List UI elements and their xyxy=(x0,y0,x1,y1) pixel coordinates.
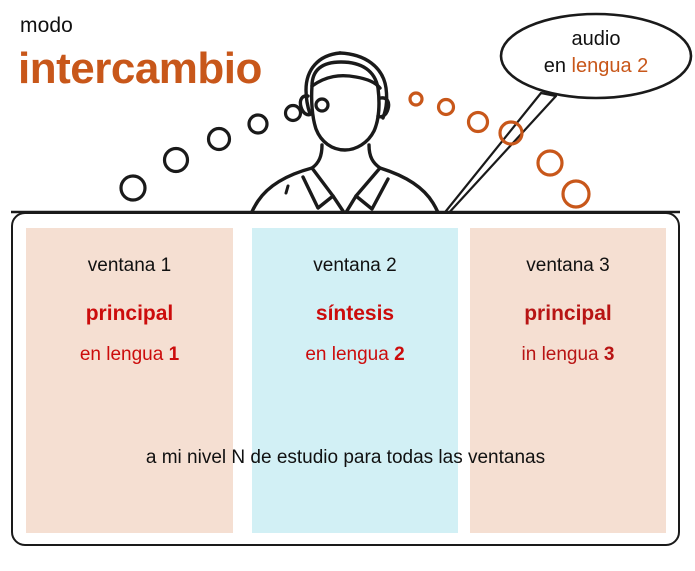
window-language-1: en lengua 1 xyxy=(26,344,233,366)
window-column-1-content: ventana 1 principal en lengua 1 xyxy=(26,228,233,366)
window-label-2: ventana 2 xyxy=(252,255,458,277)
window-column-1[interactable]: ventana 1 principal en lengua 1 xyxy=(26,228,233,533)
speech-bubble-text: audio en lengua 2 xyxy=(505,26,687,80)
window-column-2-content: ventana 2 síntesis en lengua 2 xyxy=(252,228,458,366)
window-language-2: en lengua 2 xyxy=(252,344,458,366)
window-column-3[interactable]: ventana 3 principal in lengua 3 xyxy=(470,228,666,533)
window-language-3-number: 3 xyxy=(604,344,615,365)
window-role-2: síntesis xyxy=(252,302,458,326)
window-language-1-prefix: en lengua xyxy=(80,344,169,365)
speech-bubble-line-2: en lengua 2 xyxy=(505,53,687,80)
window-language-1-number: 1 xyxy=(169,344,180,365)
window-language-3-prefix: in lengua xyxy=(522,344,604,365)
speech-bubble-line-2-highlight: lengua 2 xyxy=(572,55,649,77)
window-column-3-content: ventana 3 principal in lengua 3 xyxy=(470,228,666,366)
window-role-1: principal xyxy=(26,302,233,326)
window-label-1: ventana 1 xyxy=(26,255,233,277)
page-title: intercambio xyxy=(18,44,262,94)
header-eyebrow: modo xyxy=(20,14,73,38)
thought-bubbles-left xyxy=(121,99,328,200)
window-label-3: ventana 3 xyxy=(470,255,666,277)
window-language-2-number: 2 xyxy=(394,344,405,365)
window-role-3: principal xyxy=(470,302,666,326)
speech-bubble-line-2-prefix: en xyxy=(544,55,572,77)
speech-bubble-line-1: audio xyxy=(505,26,687,53)
window-column-2[interactable]: ventana 2 síntesis en lengua 2 xyxy=(252,228,458,533)
window-language-3: in lengua 3 xyxy=(470,344,666,366)
diagram-canvas: modo intercambio xyxy=(0,0,695,571)
window-language-2-prefix: en lengua xyxy=(305,344,394,365)
thought-bubbles-right xyxy=(410,93,589,207)
panel-caption: a mi nivel N de estudio para todas las v… xyxy=(11,447,680,469)
